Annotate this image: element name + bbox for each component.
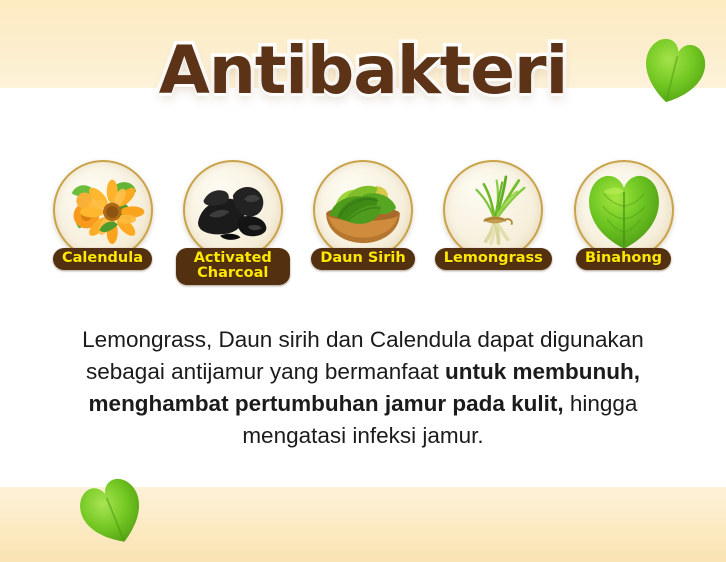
ingredient-item-daun-sirih[interactable]: Daun Sirih <box>301 160 426 270</box>
ingredient-circle <box>574 160 674 260</box>
infographic-canvas: Antibakteri <box>0 0 726 562</box>
ingredient-list: Calendula <box>40 160 686 285</box>
description-paragraph: Lemongrass, Daun sirih dan Calendula dap… <box>40 324 686 452</box>
betel-leaves-bowl-icon <box>317 164 409 256</box>
ingredient-label: Lemongrass <box>435 248 552 270</box>
ingredient-label: Calendula <box>53 248 152 270</box>
ingredient-circle <box>443 160 543 260</box>
ingredient-circle <box>183 160 283 260</box>
ingredient-label: Daun Sirih <box>311 248 414 270</box>
ingredient-circle <box>53 160 153 260</box>
ingredient-item-activated-charcoal[interactable]: Activated Charcoal <box>170 160 295 285</box>
charcoal-chunks-icon <box>187 164 279 256</box>
binahong-leaf-icon <box>578 164 670 256</box>
ingredient-item-calendula[interactable]: Calendula <box>40 160 165 270</box>
ingredient-item-lemongrass[interactable]: Lemongrass <box>431 160 556 270</box>
background-band-bottom <box>0 487 726 562</box>
lemongrass-bundle-icon <box>447 164 539 256</box>
calendula-flower-icon <box>57 164 149 256</box>
page-title: Antibakteri <box>159 38 567 104</box>
ingredient-label: Activated Charcoal <box>176 248 290 285</box>
page-title-wrap: Antibakteri <box>0 38 726 104</box>
ingredient-item-binahong[interactable]: Binahong <box>561 160 686 270</box>
ingredient-circle <box>313 160 413 260</box>
ingredient-label: Binahong <box>576 248 671 270</box>
